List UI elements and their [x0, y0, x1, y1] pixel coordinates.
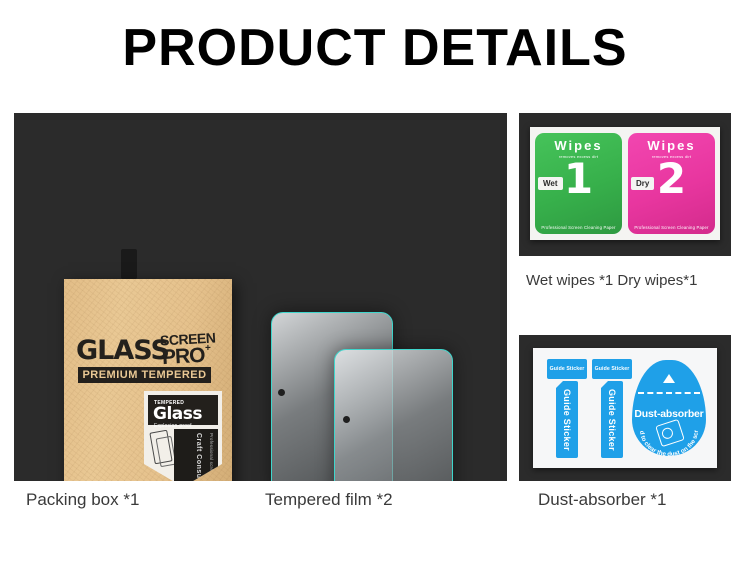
wet-wipe-number: 1 — [564, 161, 593, 197]
product-details-page: PRODUCT DETAILS GLASS SCREEN PRO + PREMI… — [0, 0, 750, 579]
guide-sticker-tab-1: Guide Sticker — [547, 359, 587, 379]
guide-strip-label: Guide Sticker — [607, 389, 617, 451]
tempered-film-front — [334, 349, 453, 481]
badge-vertical-main-text: Craft Consummate Industry Model — [195, 433, 202, 481]
packing-box-image: GLASS SCREEN PRO + PREMIUM TEMPERED TEMP… — [64, 279, 232, 481]
svg-text:Used to clear the dust on the: Used to clear the dust on the screen — [632, 360, 700, 456]
badge-glass-text: Glass — [153, 404, 202, 424]
main-product-panel: GLASS SCREEN PRO + PREMIUM TEMPERED TEMP… — [14, 113, 507, 481]
dry-wipe-title: Wipes — [647, 138, 695, 153]
wet-wipe-footer: Professional Screen Cleaning Paper — [535, 225, 622, 230]
box-hang-tab — [121, 249, 137, 279]
badge-header: TEMPERED Glass Explosion-proof — [148, 395, 218, 425]
dry-wipe: Wipes removes excess dirt 2 Dry Professi… — [628, 133, 715, 234]
camera-hole-icon — [278, 389, 285, 396]
wet-wipe-tag: Wet — [538, 177, 563, 190]
wet-wipe-title: Wipes — [554, 138, 602, 153]
arc-text-content: Used to clear the dust on the screen — [632, 360, 700, 456]
guide-strip-label: Guide Sticker — [562, 389, 572, 451]
dry-wipe-footer: Professional Screen Cleaning Paper — [628, 225, 715, 230]
camera-hole-icon — [343, 416, 350, 423]
guide-sticker-strip-2: Guide Sticker — [601, 381, 623, 458]
dry-wipe-tag: Dry — [631, 177, 654, 190]
sticker-fold-corner-icon — [556, 381, 563, 388]
badge-vertical-sub-text: Professional screen protector — [209, 433, 214, 481]
wet-wipe: Wipes removes excess dirt 1 Wet Professi… — [535, 133, 622, 234]
dry-wipe-number: 2 — [657, 161, 686, 197]
wipes-panel: Wipes removes excess dirt 1 Wet Professi… — [519, 113, 731, 256]
page-title: PRODUCT DETAILS — [0, 22, 750, 74]
dry-wipe-subtitle: removes excess dirt — [652, 154, 691, 159]
guide-sticker-tab-2: Guide Sticker — [592, 359, 632, 379]
brand-plus-text: + — [205, 343, 211, 354]
wet-wipe-subtitle: removes excess dirt — [559, 154, 598, 159]
tempered-glass-badge: TEMPERED Glass Explosion-proof Craft Con… — [144, 391, 222, 481]
dust-absorber-sheet-image: Guide Sticker Guide Sticker Guide Sticke… — [533, 348, 717, 468]
guide-sticker-strip-1: Guide Sticker — [556, 381, 578, 458]
wipes-sheet-image: Wipes removes excess dirt 1 Wet Professi… — [530, 127, 720, 240]
dust-absorber-arc-text: Used to clear the dust on the screen — [632, 360, 706, 456]
brand-tagline: PREMIUM TEMPERED — [78, 367, 211, 383]
caption-dust-absorber: Dust-absorber *1 — [538, 490, 667, 510]
badge-side-strip: Craft Consummate Industry Model Professi… — [174, 429, 218, 481]
dust-absorber-sticker: Dust-absorber Used to clear the dust on … — [632, 360, 706, 456]
caption-tempered-film: Tempered film *2 — [265, 490, 393, 510]
caption-packing-box: Packing box *1 — [26, 490, 139, 510]
caption-wipes: Wet wipes *1 Dry wipes*1 — [526, 272, 697, 289]
brand-glass-text: GLASS — [76, 335, 169, 366]
sticker-fold-corner-icon — [601, 381, 608, 388]
dust-absorber-panel: Guide Sticker Guide Sticker Guide Sticke… — [519, 335, 731, 481]
